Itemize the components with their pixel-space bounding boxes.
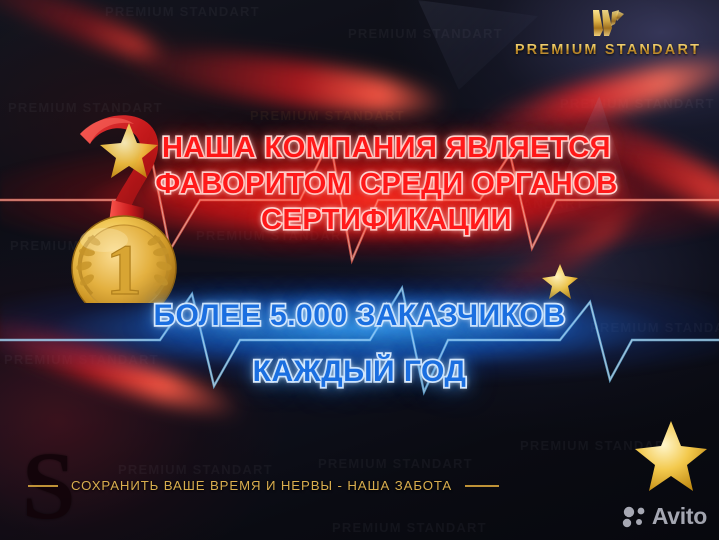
watermark-text: PREMIUM STANDART (348, 26, 503, 41)
promo-banner: PREMIUM STANDARTPREMIUM STANDARTPREMIUM … (0, 0, 719, 540)
watermark-text: PREMIUM STANDART (560, 96, 715, 111)
headline-line-2: ФАВОРИТОМ СРЕДИ ОРГАНОВ (54, 166, 719, 202)
gold-star-icon (632, 418, 710, 494)
watermark-text: PREMIUM STANDART (250, 108, 405, 123)
watermark-text: PREMIUM STANDART (118, 462, 273, 477)
brand-lockup: PREMIUM STANDART (513, 8, 703, 58)
avito-label: Avito (652, 503, 707, 530)
watermark-text: PREMIUM STANDART (520, 438, 675, 453)
subheadline-line-2: КАЖДЫЙ ГОД (0, 344, 719, 400)
divider-dash-right (465, 485, 499, 487)
tagline-text: СОХРАНИТЬ ВАШЕ ВРЕМЯ И НЕРВЫ - НАША ЗАБО… (71, 478, 452, 493)
headline-line-3: СЕРТИФИКАЦИИ (54, 202, 719, 238)
avito-dots-icon (622, 506, 647, 528)
divider-dash-left (28, 485, 58, 487)
watermark-text: PREMIUM STANDART (105, 4, 260, 19)
subheadline-line-1: БОЛЕЕ 5.000 ЗАКАЗЧИКОВ (0, 288, 719, 344)
headline-block: НАША КОМПАНИЯ ЯВЛЯЕТСЯ ФАВОРИТОМ СРЕДИ О… (0, 130, 719, 238)
subheadline-block: БОЛЕЕ 5.000 ЗАКАЗЧИКОВ КАЖДЫЙ ГОД (0, 288, 719, 400)
headline-line-1: НАША КОМПАНИЯ ЯВЛЯЕТСЯ (54, 130, 719, 166)
watermark-text: PREMIUM STANDART (318, 456, 473, 471)
premium-w-logo-icon (585, 8, 631, 38)
tagline-row: СОХРАНИТЬ ВАШЕ ВРЕМЯ И НЕРВЫ - НАША ЗАБО… (28, 478, 499, 493)
avito-watermark: Avito (622, 503, 707, 530)
watermark-text: PREMIUM STANDART (332, 520, 487, 535)
brand-name: PREMIUM STANDART (513, 42, 703, 58)
light-streak (0, 0, 177, 74)
